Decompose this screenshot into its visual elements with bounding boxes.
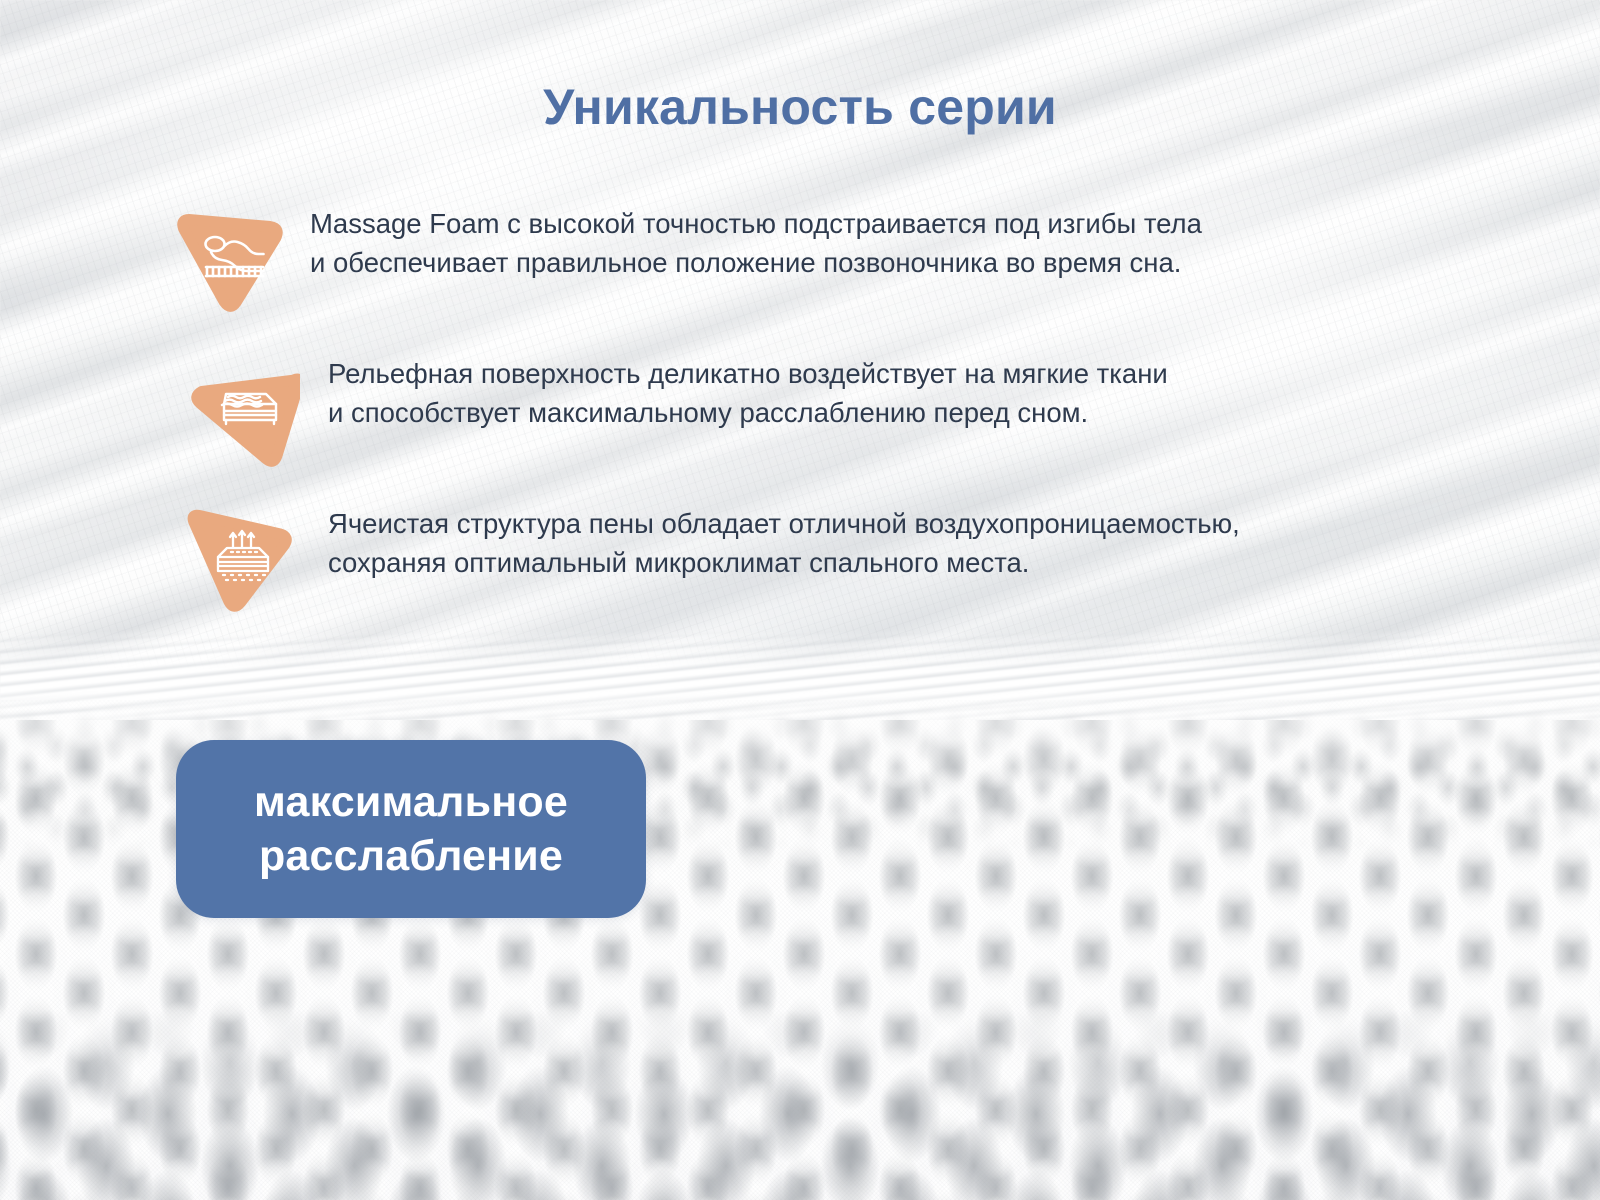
highlight-badge: максимальное расслабление [176, 740, 646, 918]
feature-text: Ячеистая структура пены обладает отлично… [328, 496, 1240, 582]
feature-text: Рельефная поверхность деликатно воздейст… [328, 346, 1168, 432]
feature-item: Massage Foam с высокой точностью подстра… [0, 196, 1600, 346]
wavy-surface-mattress-icon [182, 350, 300, 468]
mattress-airflow-icon [182, 498, 300, 616]
feature-text: Massage Foam с высокой точностью подстра… [310, 196, 1202, 282]
person-lying-on-mattress-icon [174, 198, 292, 316]
promo-banner: Уникальность серии [0, 0, 1600, 1200]
badge-line-2: расслабление [259, 829, 563, 883]
feature-item: Ячеистая структура пены обладает отлично… [0, 496, 1600, 646]
feature-item: Рельефная поверхность деликатно воздейст… [0, 346, 1600, 496]
badge-line-1: максимальное [254, 775, 568, 829]
page-title: Уникальность серии [0, 78, 1600, 136]
feature-list: Massage Foam с высокой точностью подстра… [0, 196, 1600, 646]
